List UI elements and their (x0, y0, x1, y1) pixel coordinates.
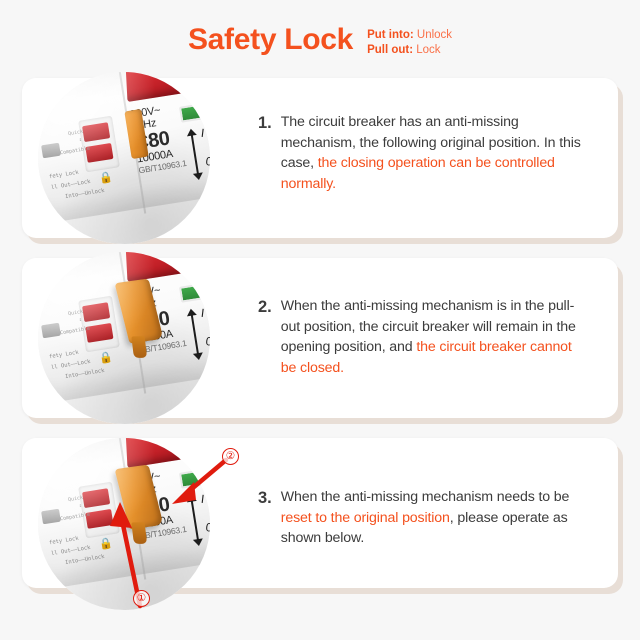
circuit-breaker-illustration: 230V~ 50Hz C80 10000A GB/T10963.1 I ON 0… (38, 72, 210, 244)
step-number-3: 3. (258, 487, 272, 511)
label-off: 0 OFF (205, 520, 210, 538)
grey-terminal-nub (41, 509, 61, 525)
grey-terminal-nub (41, 143, 61, 159)
callout-number-2: ② (222, 448, 239, 465)
callout-number-1: ① (133, 590, 150, 607)
circuit-breaker-illustration: 230V~ 50Hz C80 10000A GB/T10963.1 I ON 0… (38, 252, 210, 424)
step-1-segment-highlight: the closing operation can be controlled … (281, 155, 555, 192)
note-key-pull-out: Pull out: (367, 44, 413, 56)
step-3-segment-highlight: reset to the original position (281, 510, 450, 526)
padlock-icon: 🔒 (98, 350, 114, 365)
label-on: I ON (200, 306, 210, 323)
step-body-3: When the anti-missing mechanism needs to… (281, 487, 588, 549)
callout-arrow-2: ② (168, 450, 246, 512)
step-body-1: The circuit breaker has an anti-missing … (281, 112, 588, 195)
grey-terminal-nub (41, 323, 61, 339)
step-text-1: 1. The circuit breaker has an anti-missi… (258, 112, 588, 195)
page-header: Safety Lock Put into: Unlock Pull out: L… (0, 22, 640, 74)
breaker-photo-step-2: 230V~ 50Hz C80 10000A GB/T10963.1 I ON 0… (38, 252, 210, 424)
callout-1-arrowhead (110, 502, 132, 528)
step-text-3: 3. When the anti-missing mechanism needs… (258, 487, 588, 549)
callout-2-arrowhead (172, 482, 196, 504)
header-notes: Put into: Unlock Pull out: Lock (367, 22, 452, 58)
callout-arrow-1: ① (100, 498, 170, 610)
padlock-icon: 🔒 (98, 170, 114, 185)
header-note-pull-out: Pull out: Lock (367, 43, 452, 58)
label-on: I ON (200, 126, 210, 143)
note-value-unlock: Unlock (417, 29, 452, 41)
step-body-2: When the anti-missing mechanism is in th… (281, 296, 588, 379)
step-number-1: 1. (258, 112, 272, 136)
breaker-photo-step-1: 230V~ 50Hz C80 10000A GB/T10963.1 I ON 0… (38, 72, 210, 244)
double-arrow-icon (191, 314, 199, 354)
step-3-segment-plain-a: When the anti-missing mechanism needs to… (281, 489, 569, 505)
label-off: 0 OFF (205, 154, 210, 172)
note-value-lock: Lock (416, 44, 440, 56)
page-title: Safety Lock (188, 22, 353, 55)
double-arrow-icon (191, 134, 199, 174)
label-off: 0 OFF (205, 334, 210, 352)
header-note-put-into: Put into: Unlock (367, 28, 452, 43)
step-number-2: 2. (258, 296, 272, 320)
step-text-2: 2. When the anti-missing mechanism is in… (258, 296, 588, 379)
note-key-put-into: Put into: (367, 29, 414, 41)
